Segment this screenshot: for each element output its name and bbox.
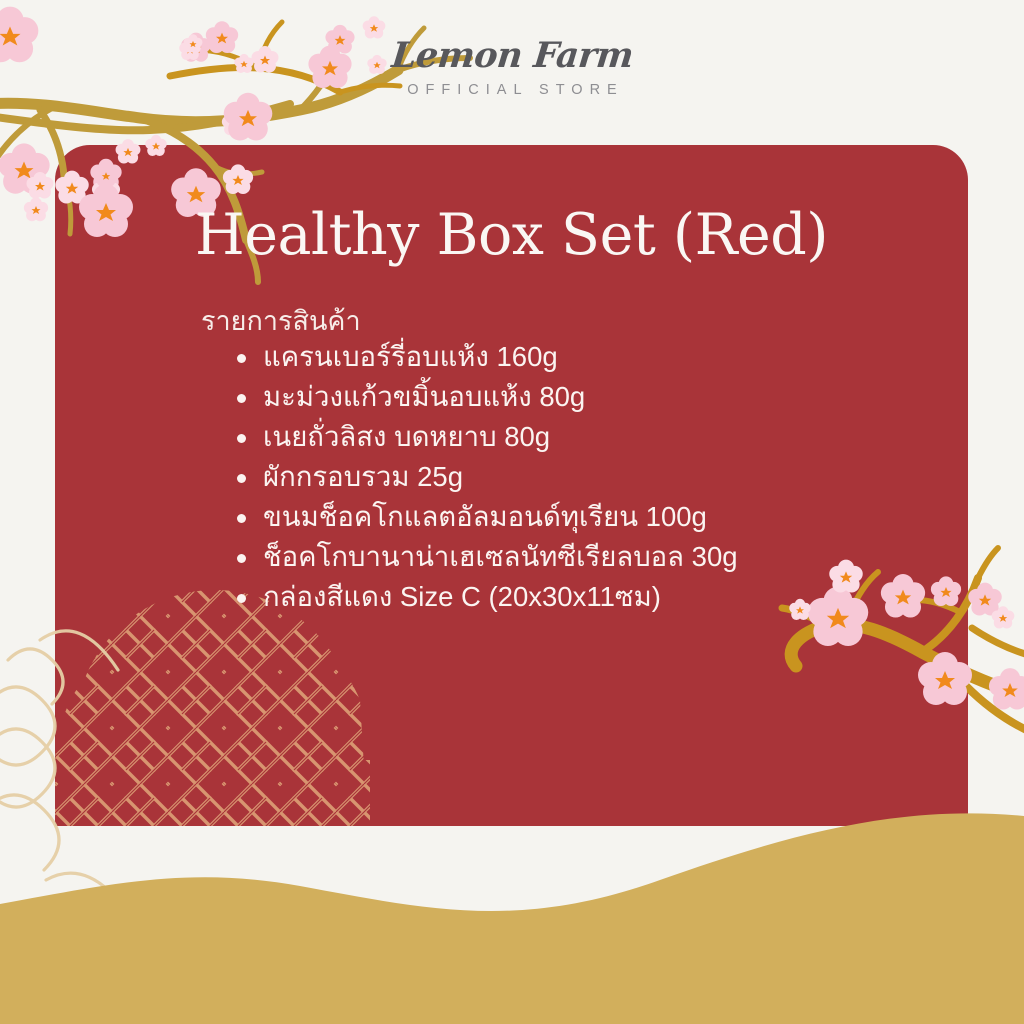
product-list-item: ขนมช็อคโกแลตอัลมอนด์ทุเรียน 100g xyxy=(263,503,738,531)
product-list-item: มะม่วงแก้วขมิ้นอบแห้ง 80g xyxy=(263,383,738,411)
product-list-heading: รายการสินค้า xyxy=(201,305,361,339)
poster-canvas: Lemon Farm OFFICIAL STORE Healthy Box Se… xyxy=(0,0,1024,1024)
product-list-item: แครนเบอร์รี่อบแห้ง 160g xyxy=(263,343,738,371)
page-title: Healthy Box Set (Red) xyxy=(195,207,828,264)
brand-name: Lemon Farm xyxy=(390,38,635,73)
product-list-item: เนยถั่วลิสง บดหยาบ 80g xyxy=(263,423,738,451)
product-list: แครนเบอร์รี่อบแห้ง 160gมะม่วงแก้วขมิ้นอบ… xyxy=(235,343,738,623)
product-list-item: กล่องสีแดง Size C (20x30x11ซม) xyxy=(263,583,738,611)
brand-subtitle: OFFICIAL STORE xyxy=(0,82,1024,98)
brand-logo: Lemon Farm OFFICIAL STORE xyxy=(0,38,1024,98)
product-list-item: ผักกรอบรวม 25g xyxy=(263,463,738,491)
product-list-item: ช็อคโกบานาน่าเฮเซลนัทซีเรียลบอล 30g xyxy=(263,543,738,571)
product-card: Healthy Box Set (Red) รายการสินค้า แครนเ… xyxy=(55,145,968,825)
